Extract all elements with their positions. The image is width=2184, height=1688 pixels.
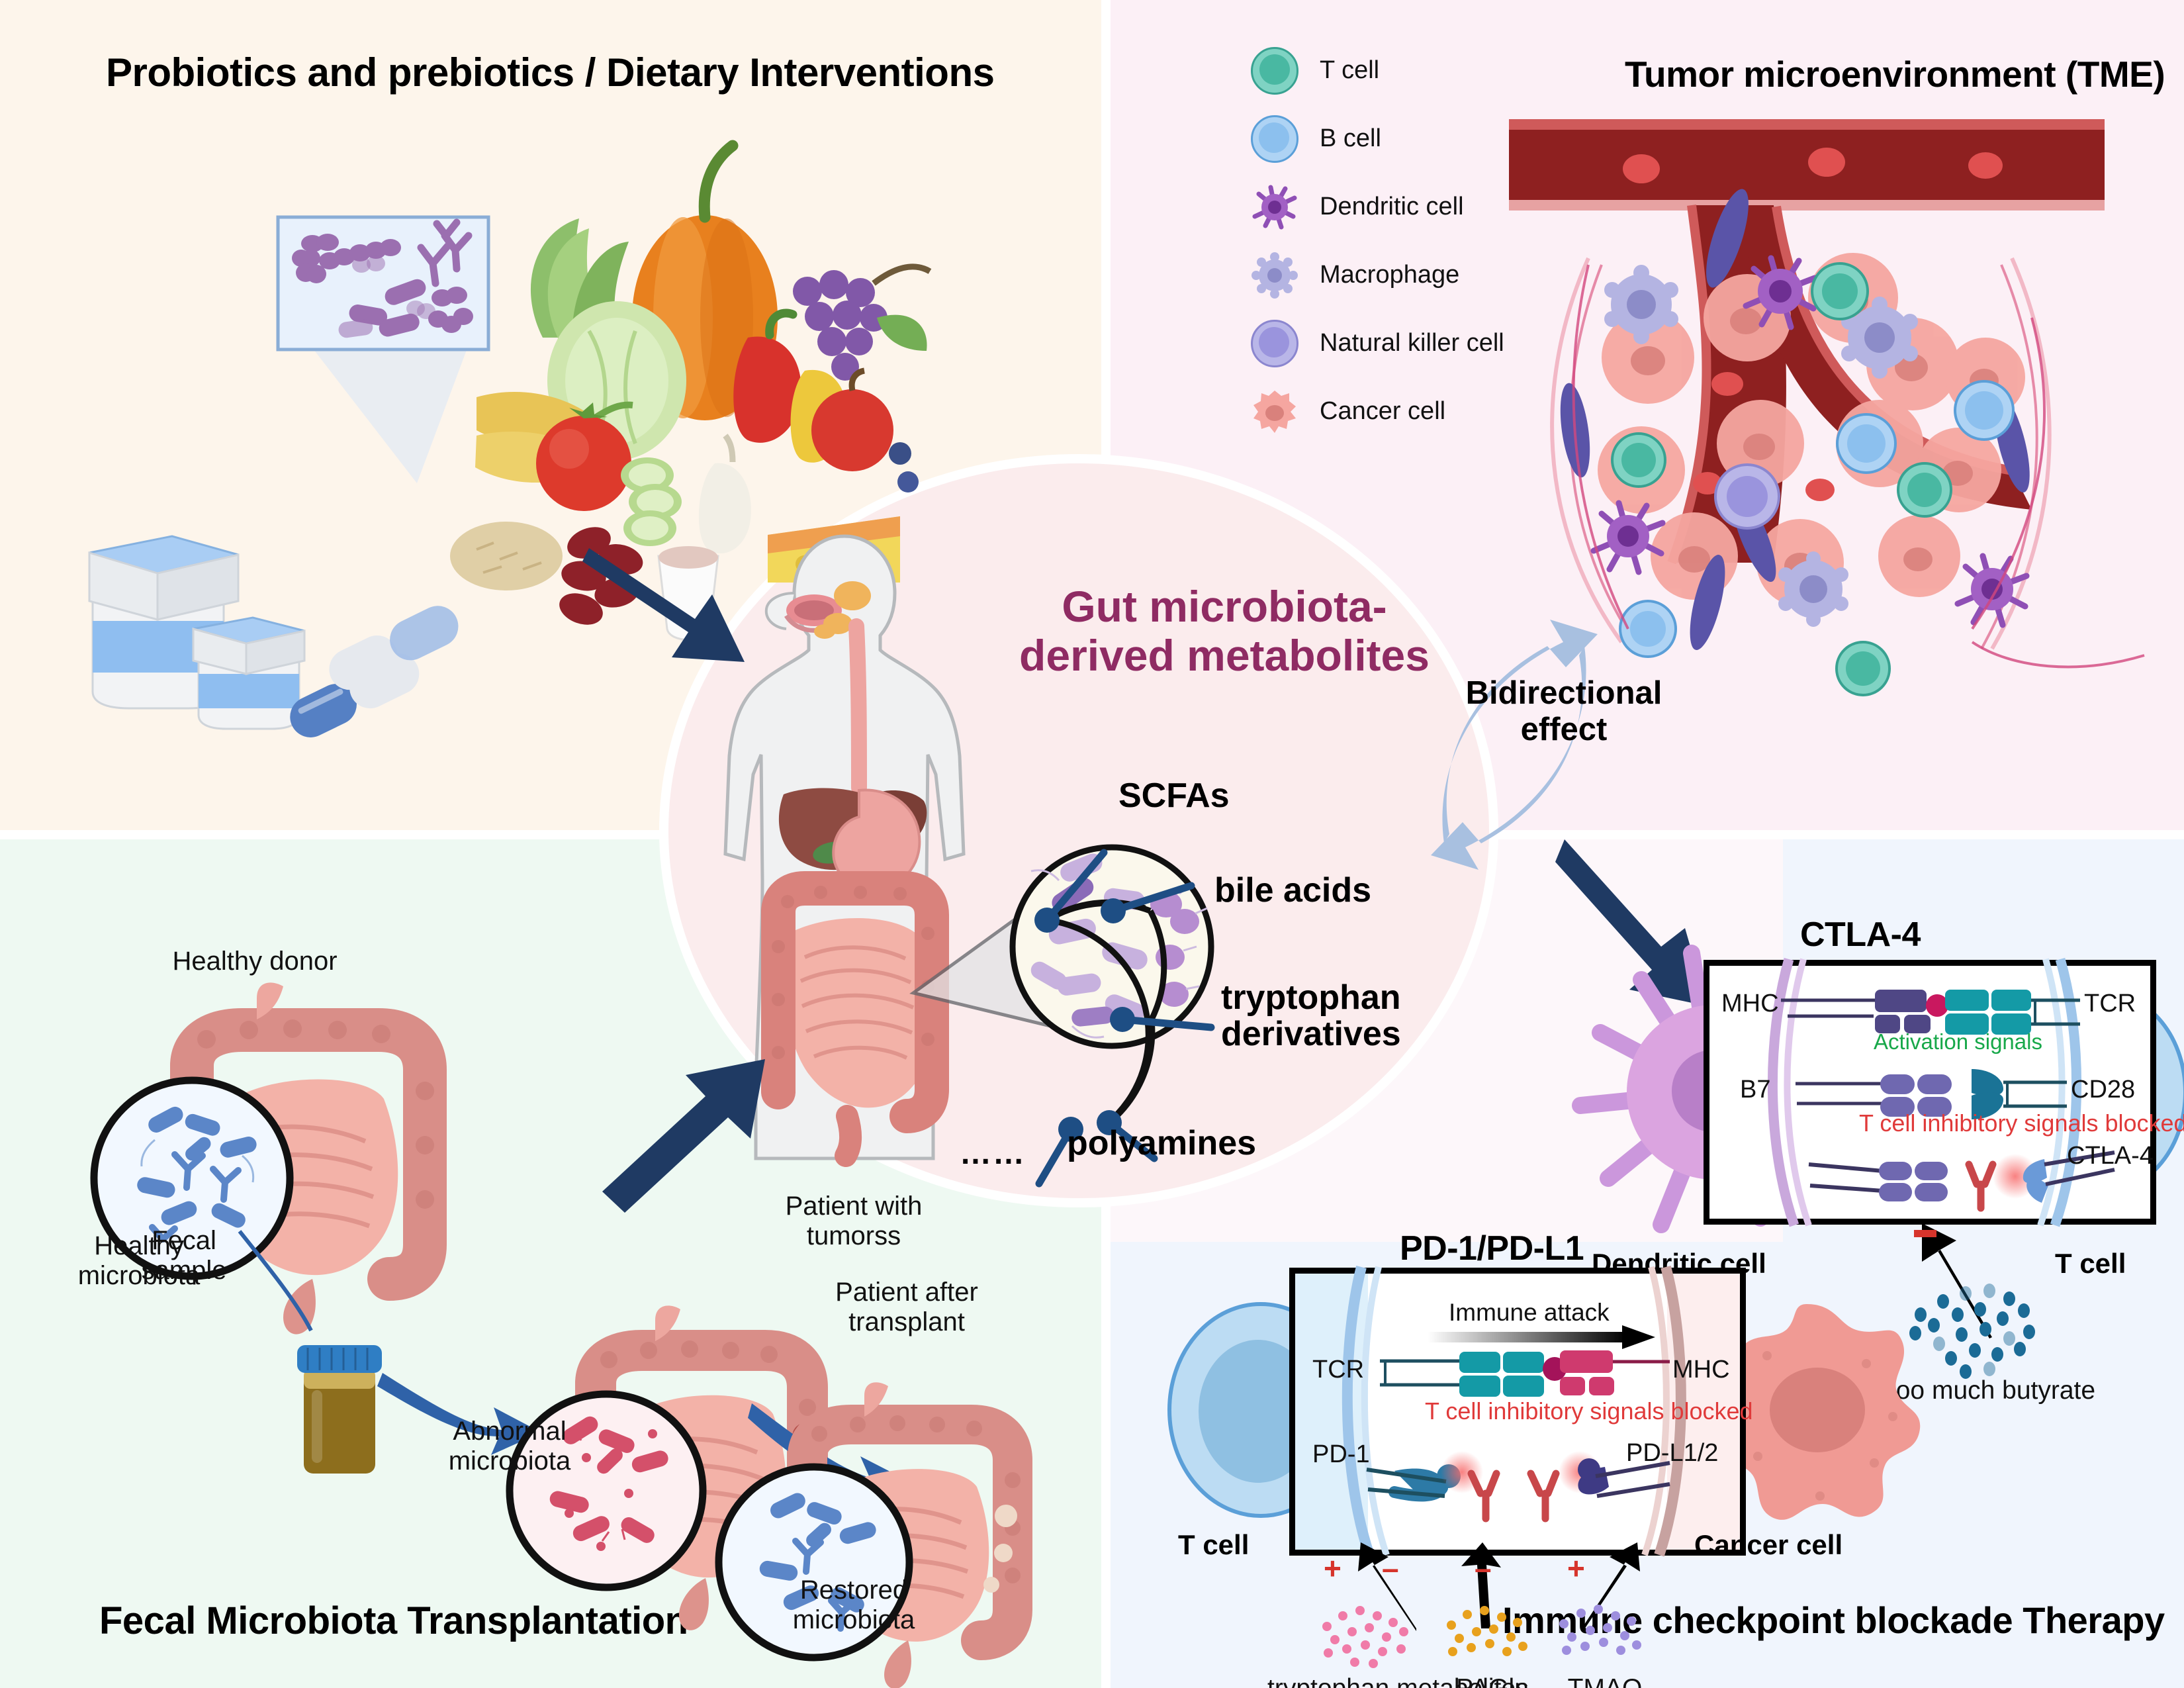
metabolite-spoke-diagram — [993, 755, 1271, 1178]
pd1-label-tcr: TCR — [1312, 1356, 1364, 1384]
legend-item-dendritic-cell: Dendritic cell — [1251, 173, 1504, 241]
nk-cell-icon — [1251, 320, 1298, 367]
legend-item-nk-cell: Natural killer cell — [1251, 309, 1504, 377]
panel-title-probiotics: Probiotics and prebiotics / Dietary Inte… — [106, 50, 994, 95]
ctla4-minus-sign — [1914, 1230, 1936, 1237]
pd1-immune-attack-label: Immune attack — [1449, 1299, 1610, 1327]
ctla4-label-tcr: TCR — [2084, 990, 2136, 1018]
tme-tissue-illustration — [1509, 99, 2184, 642]
pd1-cancer-cell-label: Cancer cell — [1694, 1529, 1843, 1561]
pd1-sign-minus-pagln: – — [1475, 1550, 1492, 1586]
legend-label: Macrophage — [1320, 261, 1459, 289]
metabolite-scfas: SCFAs — [1118, 778, 1230, 814]
pd1-sign-plus-tryptophan: + — [1324, 1550, 1342, 1586]
bidirectional-effect-label: Bidirectional effect — [1455, 675, 1673, 748]
bidirectional-line2: effect — [1521, 712, 1608, 747]
fmt-label-patient-with-tumors: Patient with tumorss — [741, 1192, 966, 1251]
metabolite-bile-acids: bile acids — [1214, 872, 1371, 909]
fmt-label-healthy-donor: Healthy donor — [132, 947, 377, 976]
legend-label: Natural killer cell — [1320, 329, 1504, 357]
legend-label: Cancer cell — [1320, 397, 1445, 426]
figure-canvas: Probiotics and prebiotics / Dietary Inte… — [0, 0, 2184, 1688]
legend-item-t-cell: T cell — [1251, 36, 1504, 105]
pd1-sign-plus-tmao: + — [1567, 1550, 1585, 1586]
tryptophan-dot-cloud — [1314, 1599, 1433, 1671]
ctla4-blocked-text: T cell inhibitory signals blocked — [1859, 1110, 2038, 1137]
pd1-sign-minus-tryptophan: – — [1382, 1550, 1399, 1586]
ctla4-activation-signals: Activation signals — [1874, 1029, 2042, 1055]
tmao-dot-cloud — [1552, 1599, 1658, 1671]
tme-legend: T cell B cell Dendritic cell — [1251, 36, 1504, 445]
ctla4-label-ctla4: CTLA-4 — [2067, 1142, 2154, 1170]
legend-label: B cell — [1320, 124, 1381, 153]
legend-item-cancer-cell: Cancer cell — [1251, 377, 1504, 445]
metabolite-tryptophan-derivatives: tryptophan derivatives — [1221, 980, 1466, 1052]
bacteria-inset-box — [265, 199, 635, 556]
legend-item-b-cell: B cell — [1251, 105, 1504, 173]
bidirectional-line1: Bidirectional — [1466, 675, 1662, 711]
pagln-dot-cloud — [1439, 1599, 1545, 1671]
intestine-after-transplant — [741, 1383, 1099, 1688]
ctla4-mechanism-box: MHC TCR B7 CD28 CTLA-4 Activation signal… — [1704, 960, 2156, 1225]
panel-title-tme: Tumor microenvironment (TME) — [1625, 53, 2165, 95]
fmt-label-restored-microbiota: Restored microbiota — [748, 1575, 960, 1635]
macrophage-icon — [1251, 252, 1298, 299]
pd1-mechanism-box: TCR MHC PD-1 PD-L1/2 Immune attack T cel… — [1289, 1268, 1746, 1556]
pd1-label-pdl1: PD-L1/2 — [1626, 1439, 1718, 1468]
metabolite-polyamines: polyamines — [1067, 1125, 1256, 1162]
b-cell-icon — [1251, 115, 1298, 163]
pd1-t-cell-label: T cell — [1178, 1529, 1249, 1561]
dendritic-cell-icon — [1251, 183, 1298, 231]
ctla4-label-mhc: MHC — [1721, 990, 1779, 1018]
metabolite-ellipsis: …… — [960, 1137, 1026, 1170]
pd1-tmao-label: TMAO — [1539, 1675, 1671, 1688]
legend-label: Dendritic cell — [1320, 193, 1464, 221]
legend-item-macrophage: Macrophage — [1251, 241, 1504, 309]
fmt-label-abnormal-microbiota: Abnormal microbiota — [397, 1417, 622, 1476]
t-cell-icon — [1251, 47, 1298, 95]
cancer-cell-icon — [1251, 388, 1298, 436]
pd1-label-pd1: PD-1 — [1312, 1440, 1370, 1469]
pd1-label-mhc: MHC — [1672, 1356, 1730, 1384]
ctla4-label-b7: B7 — [1740, 1076, 1770, 1104]
legend-label: T cell — [1320, 56, 1379, 85]
pd1-title: PD-1/PD-L1 — [1400, 1229, 1584, 1268]
pd1-blocked-text: T cell inhibitory signals blocked — [1425, 1398, 1614, 1425]
ctla4-label-cd28: CD28 — [2071, 1076, 2135, 1104]
fmt-label-patient-after-transplant: Patient after transplant — [801, 1278, 1013, 1337]
